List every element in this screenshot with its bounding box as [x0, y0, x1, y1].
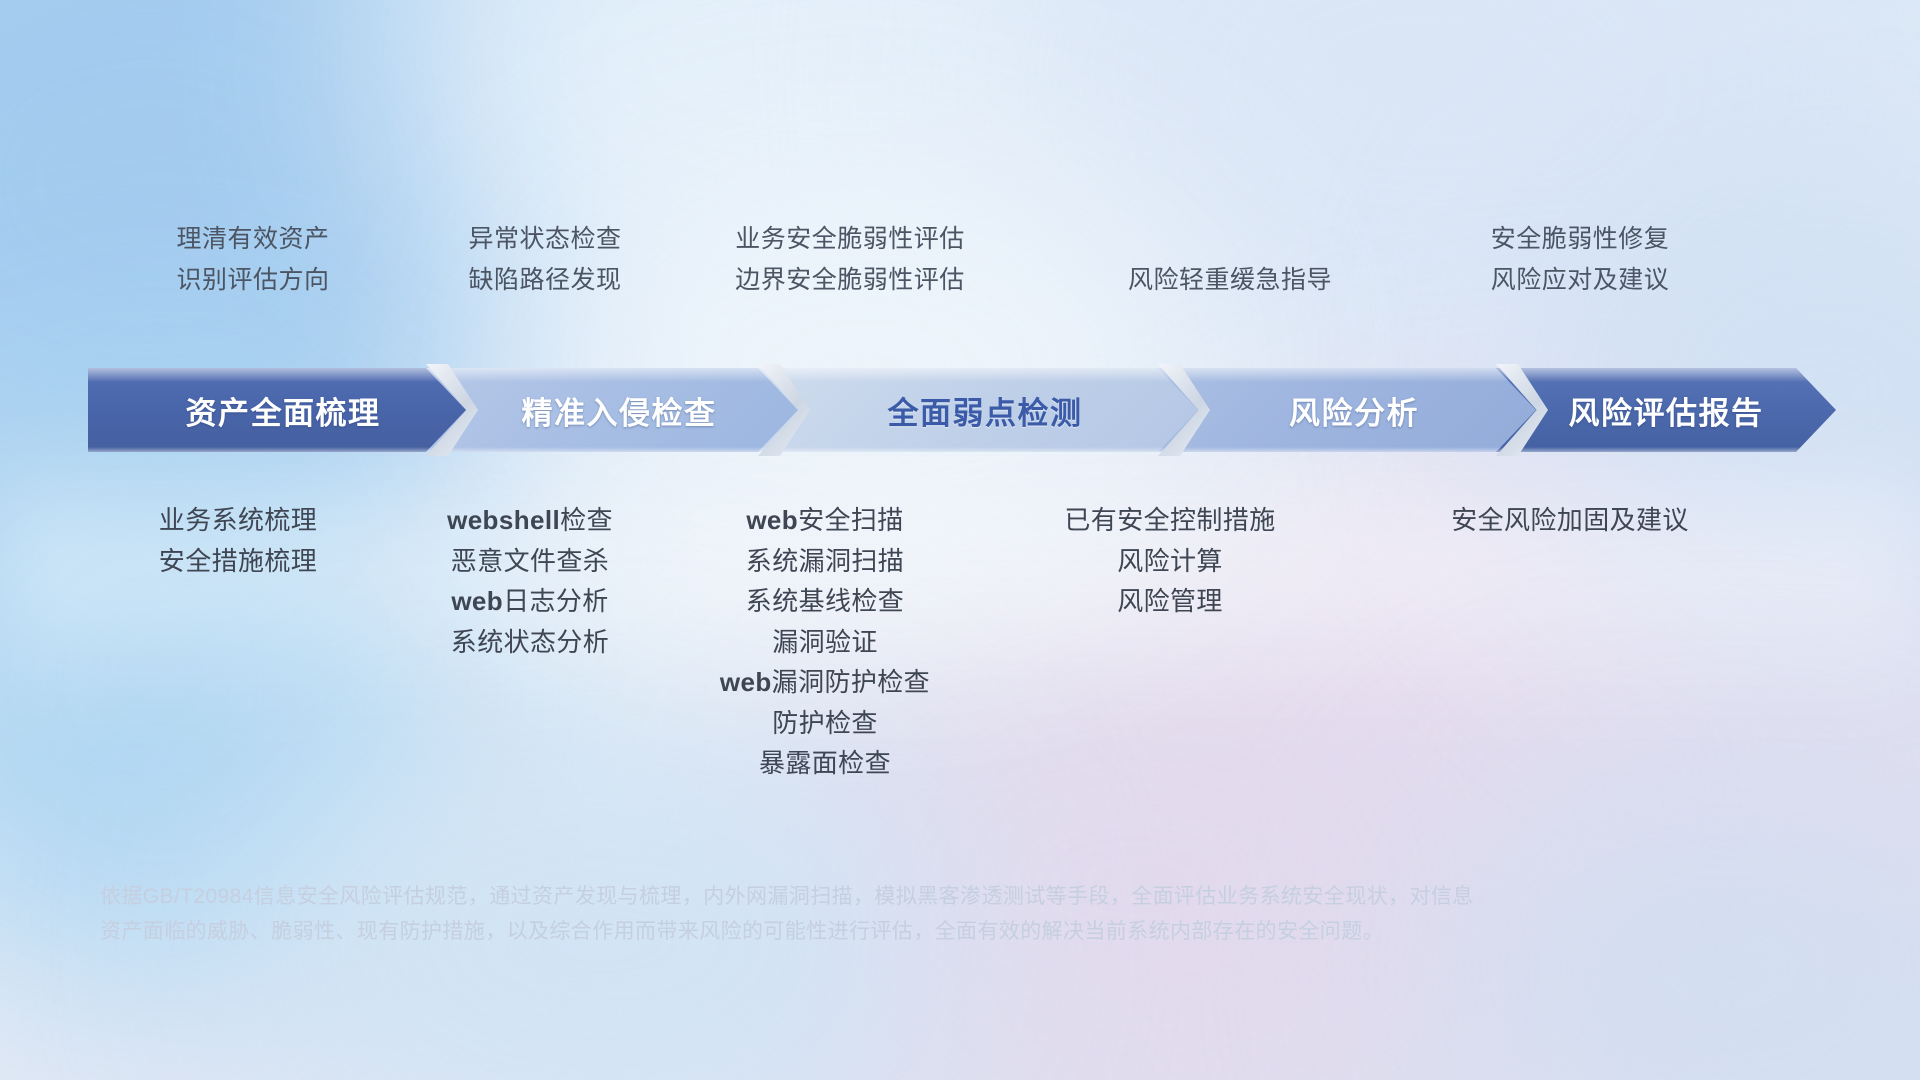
chevron-edge — [1496, 447, 1836, 452]
chevron-edge — [88, 447, 478, 452]
chevron-label-2: 精准入侵检查 — [522, 388, 717, 433]
chevron-label-4: 风险分析 — [1289, 388, 1419, 433]
chevron-stage-3[interactable]: 全面弱点检测 — [758, 368, 1212, 452]
chevron-stage-2[interactable]: 精准入侵检查 — [426, 368, 812, 452]
stage-bottom-item: 系统漏洞扫描 — [660, 541, 990, 582]
stage-top-item: 边界安全脆弱性评估 — [660, 260, 1040, 301]
chevron-highlight — [1496, 368, 1836, 382]
stage-bottom-item: webshell检查 — [380, 500, 680, 541]
footer-line-2: 资产面临的威胁、脆弱性、现有防护措施，以及综合作用而带来风险的可能性进行评估，全… — [100, 915, 1620, 950]
chevron-highlight — [1158, 368, 1550, 382]
stage-bottom-item: web日志分析 — [380, 581, 680, 622]
stage-bottom-item: 业务系统梳理 — [88, 500, 388, 541]
item-keyword: web — [720, 667, 772, 697]
top-list-4: 风险轻重缓急指导 — [1040, 260, 1420, 301]
process-diagram: 理清有效资产识别评估方向 异常状态检查缺陷路径发现 业务安全脆弱性评估边界安全脆… — [0, 0, 1920, 1080]
stage-bottom-item: 暴露面检查 — [660, 743, 990, 784]
stage-bottom-item: 风险管理 — [1000, 581, 1340, 622]
stage-bottom-item: 恶意文件查杀 — [380, 541, 680, 582]
stage-bottom-item: web安全扫描 — [660, 500, 990, 541]
bottom-list-5: 安全风险加固及建议 — [1370, 500, 1770, 541]
stage-top-labels-5: 安全脆弱性修复风险应对及建议 — [1390, 170, 1770, 300]
top-list-1: 理清有效资产识别评估方向 — [88, 219, 418, 300]
stage-top-item: 理清有效资产 — [88, 219, 418, 260]
stage-bottom-item: 漏洞验证 — [660, 622, 990, 663]
top-list-3: 业务安全脆弱性评估边界安全脆弱性评估 — [660, 219, 1040, 300]
footer-line-1: 依据GB/T20984信息安全风险评估规范，通过资产发现与梳理，内外网漏洞扫描，… — [100, 880, 1620, 915]
chevron-label-5: 风险评估报告 — [1569, 388, 1764, 433]
chevron-edge — [1158, 447, 1550, 452]
stage-bottom-item: 安全措施梳理 — [88, 541, 388, 582]
item-keyword: webshell — [447, 505, 560, 535]
chevron-stage-1[interactable]: 资产全面梳理 — [88, 368, 478, 452]
stage-bottom-item: 防护检查 — [660, 703, 990, 744]
stage-top-item: 识别评估方向 — [88, 260, 418, 301]
bottom-list-2: webshell检查恶意文件查杀web日志分析系统状态分析 — [380, 500, 680, 662]
stage-bottom-item: web漏洞防护检查 — [660, 662, 990, 703]
chevron-edge — [758, 447, 1212, 452]
top-list-5: 安全脆弱性修复风险应对及建议 — [1390, 219, 1770, 300]
stage-bottom-item: 安全风险加固及建议 — [1370, 500, 1770, 541]
stage-bottom-item: 系统状态分析 — [380, 622, 680, 663]
chevron-highlight — [426, 368, 812, 382]
stage-top-item: 风险应对及建议 — [1390, 260, 1770, 301]
stage-bottom-item: 已有安全控制措施 — [1000, 500, 1340, 541]
bottom-list-4: 已有安全控制措施风险计算风险管理 — [1000, 500, 1340, 622]
stage-top-item: 安全脆弱性修复 — [1390, 219, 1770, 260]
chevron-label-1: 资产全面梳理 — [186, 388, 381, 433]
item-keyword: web — [746, 505, 798, 535]
process-chevron-band: 资产全面梳理 精准入侵检查 全面弱点检测 风险分析 风险评估报告 — [88, 368, 1836, 452]
chevron-stage-4[interactable]: 风险分析 — [1158, 368, 1550, 452]
stage-bottom-item: 风险计算 — [1000, 541, 1340, 582]
item-keyword: web — [451, 586, 503, 616]
stage-bottom-item: 系统基线检查 — [660, 581, 990, 622]
footer-description: 依据GB/T20984信息安全风险评估规范，通过资产发现与梳理，内外网漏洞扫描，… — [100, 880, 1620, 949]
bottom-list-1: 业务系统梳理安全措施梳理 — [88, 500, 388, 581]
chevron-label-3: 全面弱点检测 — [888, 388, 1083, 433]
stage-top-labels-4: 风险轻重缓急指导 — [1040, 170, 1420, 300]
chevron-highlight — [88, 368, 478, 382]
stage-top-item: 风险轻重缓急指导 — [1040, 260, 1420, 301]
chevron-edge — [426, 447, 812, 452]
stage-top-labels-1: 理清有效资产识别评估方向 — [88, 170, 418, 300]
bottom-list-3: web安全扫描系统漏洞扫描系统基线检查漏洞验证web漏洞防护检查防护检查暴露面检… — [660, 500, 990, 784]
stage-top-item: 业务安全脆弱性评估 — [660, 219, 1040, 260]
stage-top-labels-3: 业务安全脆弱性评估边界安全脆弱性评估 — [660, 170, 1040, 300]
chevron-highlight — [758, 368, 1212, 382]
